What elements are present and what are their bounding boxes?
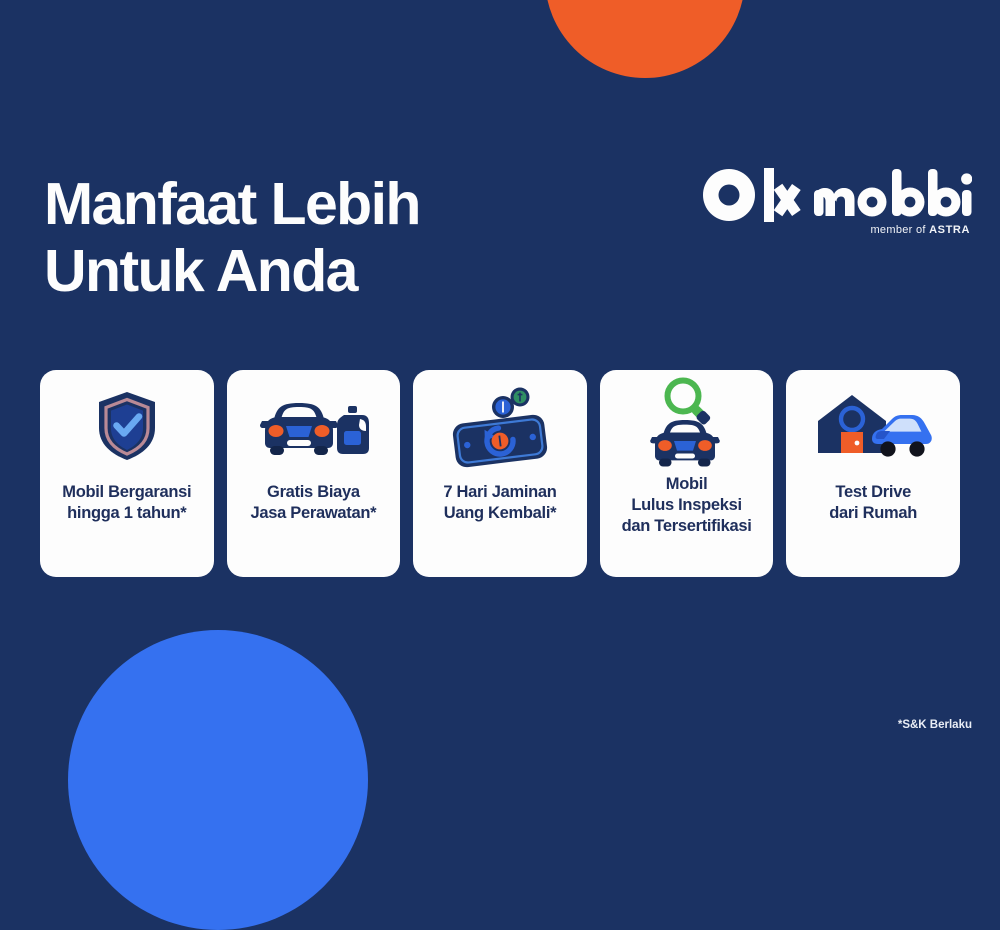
benefit-label-line-1: Mobil Bergaransi bbox=[62, 482, 191, 503]
logo-subtitle: member of ASTRA bbox=[702, 224, 970, 236]
benefit-label-line-1: Gratis Biaya bbox=[251, 482, 377, 503]
benefit-label-line-2: Jasa Perawatan* bbox=[251, 503, 377, 524]
terms-footnote: *S&K Berlaku bbox=[898, 719, 972, 731]
benefit-label-line-1: Mobil bbox=[622, 474, 752, 495]
house-car-icon bbox=[786, 370, 960, 482]
car-inspection-magnifier-icon bbox=[600, 370, 774, 474]
benefit-card-label: Test Drive dari Rumah bbox=[829, 482, 917, 524]
page-title-line-2: Untuk Anda bbox=[44, 238, 420, 305]
logo-subtitle-brand: ASTRA bbox=[929, 224, 970, 236]
benefit-card-label: 7 Hari Jaminan Uang Kembali* bbox=[443, 482, 556, 524]
benefit-card-label: Mobil Lulus Inspeksi dan Tersertifikasi bbox=[622, 474, 752, 537]
benefit-card-money-back[interactable]: 7 Hari Jaminan Uang Kembali* bbox=[413, 370, 587, 577]
benefit-label-line-2: hingga 1 tahun* bbox=[62, 503, 191, 524]
benefit-card-free-service[interactable]: Gratis Biaya Jasa Perawatan* bbox=[227, 370, 401, 577]
benefit-label-line-2: dari Rumah bbox=[829, 503, 917, 524]
money-back-banknote-icon bbox=[413, 370, 587, 482]
benefit-label-line-2: Lulus Inspeksi bbox=[622, 495, 752, 516]
page-title: Manfaat Lebih Untuk Anda bbox=[44, 171, 420, 304]
benefit-card-warranty[interactable]: Mobil Bergaransi hingga 1 tahun* bbox=[40, 370, 214, 577]
logo-wordmark bbox=[702, 170, 972, 220]
car-oil-bottle-icon bbox=[227, 370, 401, 482]
benefit-card-label: Mobil Bergaransi hingga 1 tahun* bbox=[62, 482, 191, 524]
page-title-line-1: Manfaat Lebih bbox=[44, 171, 420, 238]
benefits-card-row: Mobil Bergaransi hingga 1 tahun* bbox=[40, 370, 960, 577]
benefit-card-test-drive[interactable]: Test Drive dari Rumah bbox=[786, 370, 960, 577]
decorative-orange-circle bbox=[545, 0, 745, 78]
brand-logo: member of ASTRA bbox=[702, 170, 972, 236]
logo-subtitle-prefix: member of bbox=[870, 224, 929, 236]
decorative-blue-circle bbox=[68, 630, 368, 930]
benefit-label-line-1: Test Drive bbox=[829, 482, 917, 503]
benefit-card-inspection[interactable]: Mobil Lulus Inspeksi dan Tersertifikasi bbox=[600, 370, 774, 577]
benefit-card-label: Gratis Biaya Jasa Perawatan* bbox=[251, 482, 377, 524]
shield-check-icon bbox=[40, 370, 214, 482]
olxmobbi-logotype-icon bbox=[702, 168, 972, 222]
benefit-label-line-1: 7 Hari Jaminan bbox=[443, 482, 556, 503]
benefit-label-line-2: Uang Kembali* bbox=[443, 503, 556, 524]
benefit-label-line-3: dan Tersertifikasi bbox=[622, 516, 752, 537]
